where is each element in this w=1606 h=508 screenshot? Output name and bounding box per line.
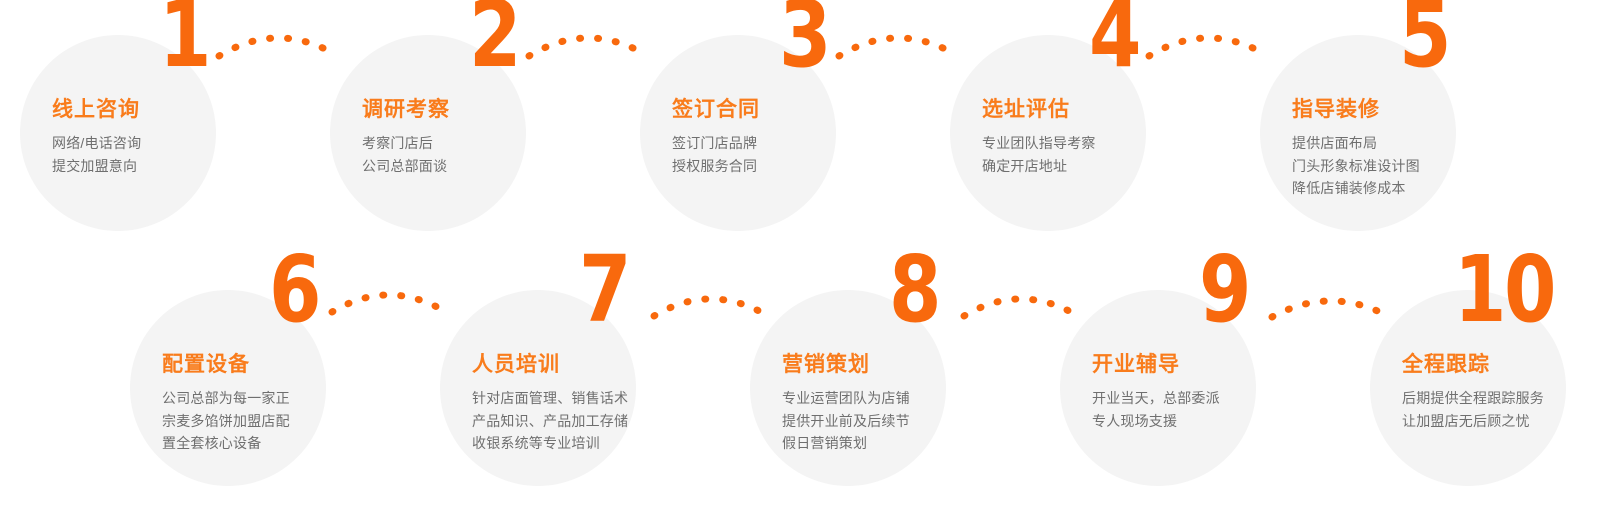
step-description-line: 置全套核心设备 <box>162 432 372 455</box>
step-number: 4 <box>1089 0 1139 71</box>
connector-arc-3-to-4 <box>835 20 955 60</box>
step-description-line: 提供开业前及后续节 <box>782 410 992 433</box>
step-card-7[interactable]: 7 人员培训 针对店面管理、销售话术 产品知识、产品加工存储 收银系统等专业培训 <box>440 290 636 486</box>
step-title: 营销策划 <box>782 348 992 378</box>
step-title: 全程跟踪 <box>1402 348 1606 378</box>
step-description-line: 确定开店地址 <box>982 155 1192 178</box>
step-title: 选址评估 <box>982 93 1192 123</box>
step-number: 6 <box>269 254 319 326</box>
step-description-line: 宗麦多馅饼加盟店配 <box>162 410 372 433</box>
step-description-line: 专业运营团队为店铺 <box>782 387 992 410</box>
step-card-1[interactable]: 1 线上咨询 网络/电话咨询 提交加盟意向 <box>20 35 216 231</box>
step-title: 配置设备 <box>162 348 372 378</box>
step-description-line: 签订门店品牌 <box>672 132 882 155</box>
step-title: 人员培训 <box>472 348 682 378</box>
step-description-line: 提交加盟意向 <box>52 155 262 178</box>
step-content: 配置设备 公司总部为每一家正 宗麦多馅饼加盟店配 置全套核心设备 <box>162 348 372 455</box>
step-card-6[interactable]: 6 配置设备 公司总部为每一家正 宗麦多馅饼加盟店配 置全套核心设备 <box>130 290 326 486</box>
step-description: 开业当天，总部委派 专人现场支援 <box>1092 387 1302 432</box>
step-card-5[interactable]: 5 指导装修 提供店面布局 门头形象标准设计图 降低店铺装修成本 <box>1260 35 1456 231</box>
step-card-8[interactable]: 8 营销策划 专业运营团队为店铺 提供开业前及后续节 假日营销策划 <box>750 290 946 486</box>
step-content: 调研考察 考察门店后 公司总部面谈 <box>362 93 572 177</box>
connector-arc-7-to-8 <box>650 282 765 322</box>
step-description-line: 针对店面管理、销售话术 <box>472 387 682 410</box>
step-description: 签订门店品牌 授权服务合同 <box>672 132 882 177</box>
step-description: 专业团队指导考察 确定开店地址 <box>982 132 1192 177</box>
step-number: 9 <box>1199 254 1249 326</box>
step-description-line: 后期提供全程跟踪服务 <box>1402 387 1606 410</box>
step-number: 10 <box>1454 254 1554 326</box>
step-title: 开业辅导 <box>1092 348 1302 378</box>
step-content: 指导装修 提供店面布局 门头形象标准设计图 降低店铺装修成本 <box>1292 93 1502 200</box>
step-content: 选址评估 专业团队指导考察 确定开店地址 <box>982 93 1192 177</box>
step-description: 后期提供全程跟踪服务 让加盟店无后顾之忧 <box>1402 387 1606 432</box>
step-number: 7 <box>579 254 629 326</box>
step-number: 1 <box>159 0 209 71</box>
step-description-line: 降低店铺装修成本 <box>1292 177 1502 200</box>
step-description: 网络/电话咨询 提交加盟意向 <box>52 132 262 177</box>
step-content: 签订合同 签订门店品牌 授权服务合同 <box>672 93 882 177</box>
step-description-line: 公司总部面谈 <box>362 155 572 178</box>
step-description-line: 公司总部为每一家正 <box>162 387 372 410</box>
step-description-line: 提供店面布局 <box>1292 132 1502 155</box>
step-description-line: 专人现场支援 <box>1092 410 1302 433</box>
franchise-process-diagram: 1 线上咨询 网络/电话咨询 提交加盟意向 2 调研考察 考察门店后 公司总部面… <box>0 0 1606 508</box>
step-card-4[interactable]: 4 选址评估 专业团队指导考察 确定开店地址 <box>950 35 1146 231</box>
step-description-line: 开业当天，总部委派 <box>1092 387 1302 410</box>
step-description-line: 收银系统等专业培训 <box>472 432 682 455</box>
step-title: 线上咨询 <box>52 93 262 123</box>
step-description: 针对店面管理、销售话术 产品知识、产品加工存储 收银系统等专业培训 <box>472 387 682 455</box>
step-card-10[interactable]: 10 全程跟踪 后期提供全程跟踪服务 让加盟店无后顾之忧 <box>1370 290 1566 486</box>
step-number: 3 <box>779 0 829 71</box>
step-description: 专业运营团队为店铺 提供开业前及后续节 假日营销策划 <box>782 387 992 455</box>
connector-arc-9-to-10 <box>1268 285 1386 325</box>
step-title: 签订合同 <box>672 93 882 123</box>
step-content: 营销策划 专业运营团队为店铺 提供开业前及后续节 假日营销策划 <box>782 348 992 455</box>
step-description-line: 网络/电话咨询 <box>52 132 262 155</box>
step-content: 人员培训 针对店面管理、销售话术 产品知识、产品加工存储 收银系统等专业培训 <box>472 348 682 455</box>
step-description: 公司总部为每一家正 宗麦多馅饼加盟店配 置全套核心设备 <box>162 387 372 455</box>
connector-arc-8-to-9 <box>960 282 1075 322</box>
connector-arc-1-to-2 <box>215 20 335 60</box>
step-description-line: 专业团队指导考察 <box>982 132 1192 155</box>
step-description-line: 授权服务合同 <box>672 155 882 178</box>
step-description: 考察门店后 公司总部面谈 <box>362 132 572 177</box>
step-description-line: 假日营销策划 <box>782 432 992 455</box>
step-number: 8 <box>889 254 939 326</box>
step-description-line: 产品知识、产品加工存储 <box>472 410 682 433</box>
step-content: 全程跟踪 后期提供全程跟踪服务 让加盟店无后顾之忧 <box>1402 348 1606 432</box>
step-number: 2 <box>469 0 519 71</box>
step-number: 5 <box>1399 0 1449 71</box>
step-description-line: 考察门店后 <box>362 132 572 155</box>
step-card-2[interactable]: 2 调研考察 考察门店后 公司总部面谈 <box>330 35 526 231</box>
step-description: 提供店面布局 门头形象标准设计图 降低店铺装修成本 <box>1292 132 1502 200</box>
step-content: 开业辅导 开业当天，总部委派 专人现场支援 <box>1092 348 1302 432</box>
connector-arc-2-to-3 <box>525 20 645 60</box>
step-content: 线上咨询 网络/电话咨询 提交加盟意向 <box>52 93 262 177</box>
step-title: 指导装修 <box>1292 93 1502 123</box>
connector-arc-6-to-7 <box>328 278 443 318</box>
step-card-9[interactable]: 9 开业辅导 开业当天，总部委派 专人现场支援 <box>1060 290 1256 486</box>
step-description-line: 让加盟店无后顾之忧 <box>1402 410 1606 433</box>
step-description-line: 门头形象标准设计图 <box>1292 155 1502 178</box>
step-title: 调研考察 <box>362 93 572 123</box>
step-card-3[interactable]: 3 签订合同 签订门店品牌 授权服务合同 <box>640 35 836 231</box>
connector-arc-4-to-5 <box>1145 20 1265 60</box>
